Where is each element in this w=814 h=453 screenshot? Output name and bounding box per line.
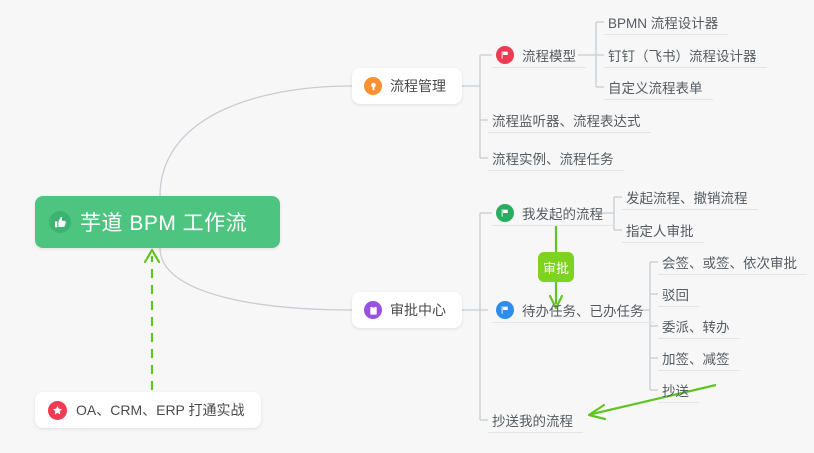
leaf-add-remove-sign[interactable]: 加签、减签 — [658, 345, 740, 371]
leaf-start-cancel-process[interactable]: 发起流程、撤销流程 — [622, 184, 758, 210]
leaf-delegate-transfer[interactable]: 委派、转办 — [658, 313, 740, 339]
node-label: 流程模型 — [522, 45, 576, 65]
leaf-dingtalk-feishu-designer[interactable]: 钉钉（飞书）流程设计器 — [604, 42, 767, 68]
flag-icon — [496, 204, 514, 222]
leaf-label: 委派、转办 — [662, 316, 730, 336]
leaf-label: 钉钉（飞书）流程设计器 — [608, 45, 757, 65]
branch-approval-center[interactable]: 审批中心 — [352, 292, 462, 328]
leaf-label: 流程监听器、流程表达式 — [492, 110, 641, 130]
clipboard-icon — [364, 301, 382, 319]
branch-label: 流程管理 — [390, 76, 446, 96]
leaf-cc-to-me-processes[interactable]: 抄送我的流程 — [488, 407, 583, 433]
node-label: 我发起的流程 — [522, 203, 603, 223]
leaf-label: 抄送我的流程 — [492, 410, 573, 430]
leaf-designated-approver[interactable]: 指定人审批 — [622, 217, 704, 243]
thumbs-up-icon — [49, 211, 71, 233]
leaf-label: BPMN 流程设计器 — [608, 12, 718, 32]
callout-arrow — [145, 250, 159, 390]
callout-label: OA、CRM、ERP 打通实战 — [76, 400, 245, 420]
callout-integration-practice[interactable]: OA、CRM、ERP 打通实战 — [35, 392, 261, 428]
location-pin-icon — [364, 77, 382, 95]
node-todo-done-tasks[interactable]: 待办任务、已办任务 — [492, 297, 654, 323]
star-icon — [48, 401, 67, 420]
root-node[interactable]: 芋道 BPM 工作流 — [35, 196, 280, 248]
leaf-label: 自定义流程表单 — [608, 77, 703, 97]
leaf-label: 抄送 — [662, 380, 689, 400]
branch-label: 审批中心 — [390, 300, 446, 320]
node-my-initiated-processes[interactable]: 我发起的流程 — [492, 200, 613, 226]
leaf-listener-expression[interactable]: 流程监听器、流程表达式 — [488, 107, 651, 133]
approval-tag-label: 审批 — [543, 258, 569, 277]
flag-icon — [496, 301, 514, 319]
leaf-label: 加签、减签 — [662, 348, 730, 368]
leaf-label: 流程实例、流程任务 — [492, 148, 614, 168]
leaf-label: 驳回 — [662, 284, 689, 304]
branch-process-management[interactable]: 流程管理 — [352, 68, 462, 104]
approval-tag: 审批 — [538, 252, 574, 282]
node-process-model[interactable]: 流程模型 — [492, 42, 586, 68]
mindmap-canvas: 芋道 BPM 工作流 流程管理 流程模型 BPMN 流程设计器 钉钉（飞书）流程… — [0, 0, 814, 453]
leaf-custom-process-form[interactable]: 自定义流程表单 — [604, 74, 713, 100]
leaf-bpmn-designer[interactable]: BPMN 流程设计器 — [604, 9, 728, 35]
leaf-label: 发起流程、撤销流程 — [626, 187, 748, 207]
root-label: 芋道 BPM 工作流 — [80, 207, 247, 237]
leaf-label: 会签、或签、依次审批 — [662, 252, 797, 272]
leaf-instance-task[interactable]: 流程实例、流程任务 — [488, 145, 624, 171]
flag-icon — [496, 46, 514, 64]
leaf-cc[interactable]: 抄送 — [658, 377, 699, 403]
leaf-label: 指定人审批 — [626, 220, 694, 240]
leaf-countersign[interactable]: 会签、或签、依次审批 — [658, 249, 807, 275]
node-label: 待办任务、已办任务 — [522, 300, 644, 320]
leaf-reject[interactable]: 驳回 — [658, 281, 699, 307]
